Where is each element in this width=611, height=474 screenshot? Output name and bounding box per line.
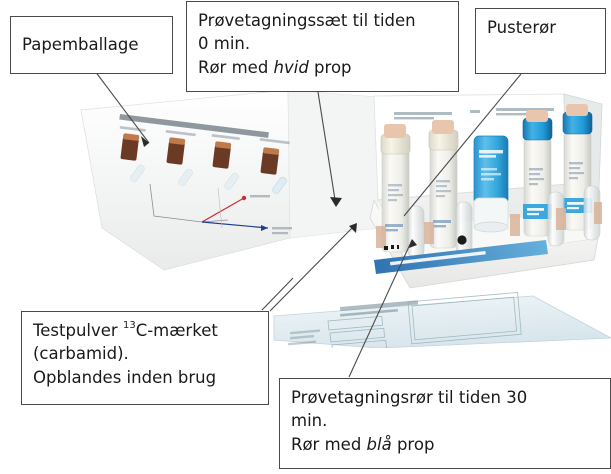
test-kit-photograph [78, 88, 611, 348]
patient-documentation-sheet [274, 292, 611, 348]
callout-testpulver-line2: (carbamid). [33, 342, 257, 365]
callout-tid0-line3-emphasis: hvid [274, 58, 309, 77]
callout-papemballage: Papemballage [10, 16, 173, 74]
cardboard-box [370, 94, 602, 288]
callout-pusteror: Pusterør [475, 8, 606, 74]
callout-sampling-set-0-min: Prøvetagningssæt til tiden 0 min. Rør me… [186, 1, 459, 92]
callout-testpulver-line3: Opblandes inden brug [33, 366, 257, 389]
callout-pusteror-text: Pusterør [487, 16, 556, 39]
callout-tid30-line3-emphasis: blå [367, 435, 392, 454]
callout-sampling-tube-30-min: Prøvetagningsrør til tiden 30 min. Rør m… [279, 378, 611, 469]
tube-blue-1 [523, 110, 552, 236]
callout-testpulver-line1-pre: Testpulver [33, 321, 123, 340]
callout-testpulver-line1-post: C-mærket [136, 321, 218, 340]
callout-tid30-line3: Rør med blå prop [291, 433, 599, 456]
figure-canvas: Papemballage Prøvetagningssæt til tiden … [0, 0, 611, 474]
callout-testpulver: Testpulver 13C-mærket (carbamid). Opblan… [21, 311, 269, 405]
callout-tid30-line3-post: prop [392, 435, 435, 454]
callout-tid0-line1: Prøvetagningssæt til tiden [198, 9, 447, 32]
registration-dot [457, 235, 466, 244]
isotope-superscript: 13 [123, 320, 136, 331]
testpowder-container [474, 136, 508, 232]
callout-tid0-line3-pre: Rør med [198, 58, 274, 77]
callout-tid30-line3-pre: Rør med [291, 435, 367, 454]
callout-testpulver-line1: Testpulver 13C-mærket [33, 319, 257, 342]
callout-tid0-line3: Rør med hvid prop [198, 56, 447, 79]
callout-papemballage-text: Papemballage [22, 33, 139, 56]
callout-tid0-line3-post: prop [309, 58, 352, 77]
callout-tid0-line2: 0 min. [198, 32, 447, 55]
callout-tid30-line2: min. [291, 409, 599, 432]
callout-tid30-line1: Prøvetagningsrør til tiden 30 [291, 386, 599, 409]
